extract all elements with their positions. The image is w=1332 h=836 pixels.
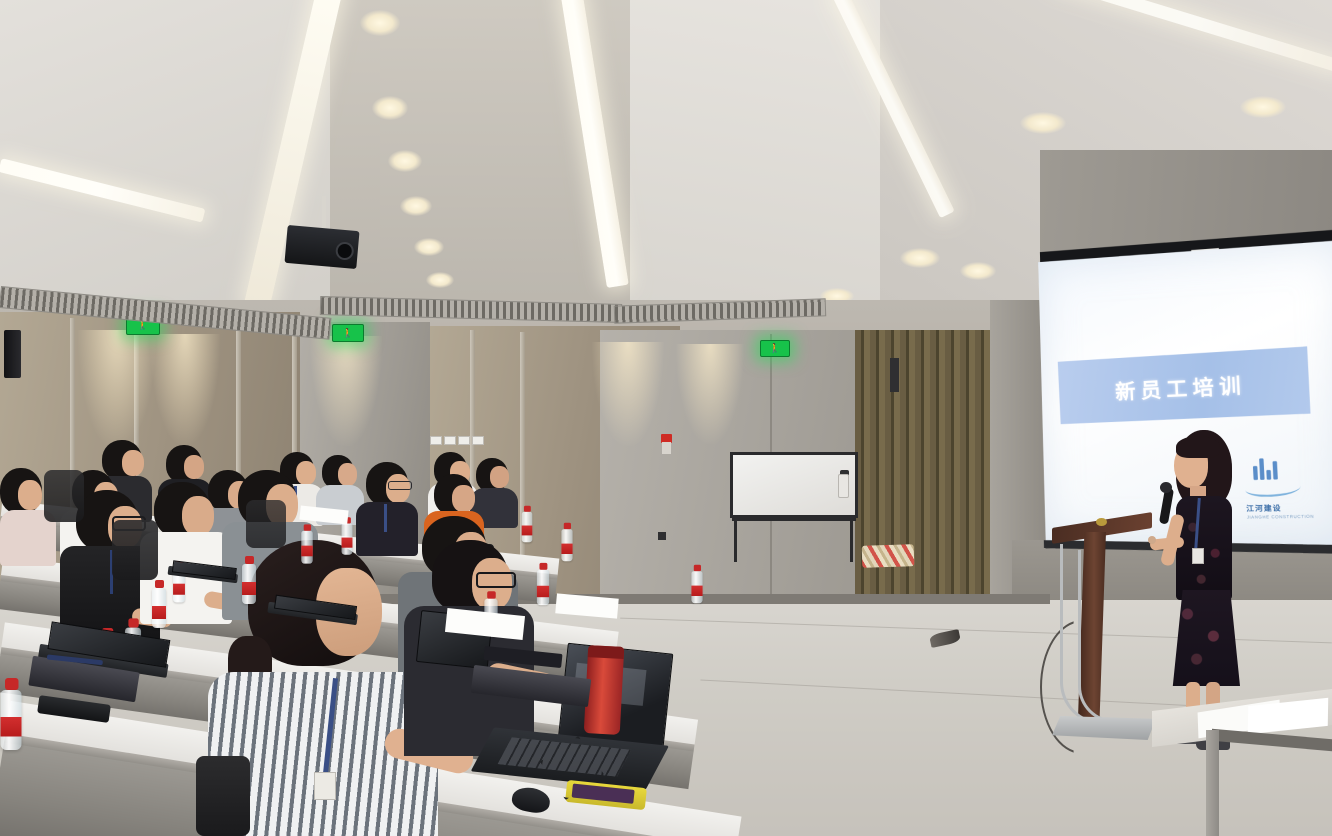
ceiling-spot-8 [960, 262, 996, 280]
bottle-body [1, 690, 22, 750]
presenter-dress-skirt [1170, 590, 1240, 686]
slide-title-text: 新员工培训 [1114, 368, 1246, 405]
office-chair-front[interactable] [196, 756, 250, 836]
exit-sign-3: 🚶 [760, 340, 790, 357]
water-bottle[interactable] [152, 580, 166, 628]
ceiling-spot-1 [360, 10, 400, 36]
lectern-base-plate [1052, 716, 1156, 740]
bottle-body [537, 570, 549, 605]
presenter-side-table [1152, 700, 1332, 836]
bottle-cap [4, 678, 18, 690]
attendee-glasses [388, 481, 412, 490]
floor-supply-crates [862, 544, 915, 568]
lectern-leg-mid [1078, 550, 1115, 723]
ceiling-spot-9 [1020, 112, 1066, 134]
bottle-body [342, 524, 353, 555]
bottle-label [342, 538, 353, 548]
bottle-label [152, 606, 166, 619]
wall-light-pool-2 [150, 334, 220, 446]
water-bottle[interactable] [1, 678, 22, 750]
side-table-leg [1206, 730, 1219, 836]
ceiling-spot-2 [372, 96, 408, 120]
bottle-label [301, 546, 312, 557]
wall-vent-small [658, 532, 666, 540]
water-bottle[interactable] [561, 523, 572, 561]
attendee-face [182, 496, 214, 536]
bottle-cap [128, 618, 138, 627]
water-bottle[interactable] [301, 524, 312, 563]
presenter-fringe [1176, 436, 1220, 458]
wall-speaker [4, 330, 21, 378]
wall-socket[interactable] [472, 436, 484, 445]
projector-lens [335, 241, 355, 261]
wall-socket[interactable] [458, 436, 470, 445]
attendee-face [338, 463, 357, 486]
exit-sign-2: 🚶 [332, 324, 364, 342]
whiteboard-eraser [838, 474, 849, 498]
wall-socket-row[interactable] [430, 436, 484, 445]
photo-scene: 🚶 🚶 🚶 [0, 0, 1332, 836]
mobile-whiteboard [730, 452, 858, 532]
ceiling-spot-7 [900, 248, 940, 268]
attendee-badge [314, 772, 336, 800]
water-bottle[interactable] [691, 565, 702, 603]
whiteboard-leg-left [734, 516, 737, 562]
bottle-cap [539, 563, 547, 570]
bottle-body [152, 588, 166, 628]
office-chair-back[interactable] [44, 470, 84, 522]
attendee-face [18, 480, 42, 510]
attendee-face [490, 466, 509, 488]
water-bottle[interactable] [242, 556, 256, 604]
fire-alarm-base [662, 442, 671, 454]
lectern [1052, 520, 1157, 750]
slide-title-banner: 新员工培训 [1058, 346, 1311, 424]
attendee-lanyard [384, 504, 387, 532]
ceiling-projector [284, 225, 359, 269]
attendee-glasses [476, 572, 516, 588]
wall-socket[interactable] [444, 436, 456, 445]
wall-light-pool-3 [310, 336, 382, 446]
bottle-cap [155, 580, 164, 588]
bottle-label [242, 582, 256, 595]
bottle-body [242, 564, 256, 604]
whiteboard-crossbar [732, 518, 856, 521]
ceiling-spot-6 [426, 272, 454, 288]
logo-bar-3 [1266, 470, 1271, 480]
ceiling-spot-4 [400, 196, 432, 216]
whiteboard-leg-right [850, 516, 853, 562]
exit-sign-pictogram: 🚶 [137, 321, 148, 330]
bottle-label [561, 544, 572, 554]
bottle-body [522, 512, 533, 542]
bottle-label [537, 586, 549, 597]
exit-sign-pictogram: 🚶 [342, 329, 353, 338]
presenter-badge [1192, 548, 1204, 564]
presenter-bracelet [1148, 536, 1156, 544]
wall-light-pool-5 [676, 344, 744, 444]
bottle-cap [487, 591, 496, 599]
microphone-head [1160, 482, 1172, 493]
water-bottle[interactable] [537, 563, 549, 605]
bottle-body [691, 571, 702, 603]
bottle-label [173, 584, 185, 595]
bottle-body [561, 529, 572, 561]
ceiling-spot-5 [414, 238, 444, 256]
exit-sign-pictogram: 🚶 [769, 344, 780, 353]
ceiling-spot-10 [1240, 96, 1286, 118]
window-curtain [855, 330, 1005, 630]
bottle-label [522, 526, 533, 536]
wall-vent-vertical [890, 358, 899, 392]
ceiling-spot-3 [388, 150, 422, 172]
attendee-face [452, 485, 475, 512]
bottle-cap [245, 556, 254, 564]
tumbler-lid[interactable] [588, 645, 625, 659]
wall-socket[interactable] [430, 436, 442, 445]
bottle-label [691, 586, 702, 596]
office-chair-mid[interactable] [112, 520, 158, 580]
water-bottle[interactable] [522, 506, 533, 542]
bottle-label [1, 717, 22, 737]
presenter-dress-top [1176, 496, 1232, 600]
bottle-body [301, 531, 312, 564]
lectern-mic-knob [1096, 518, 1107, 526]
wall-light-pool-1 [78, 330, 156, 450]
logo-bar-4 [1273, 461, 1278, 479]
projector-mount-pole [322, 196, 326, 230]
office-chair-back-2[interactable] [246, 500, 286, 548]
wall-light-pool-4 [592, 342, 664, 446]
